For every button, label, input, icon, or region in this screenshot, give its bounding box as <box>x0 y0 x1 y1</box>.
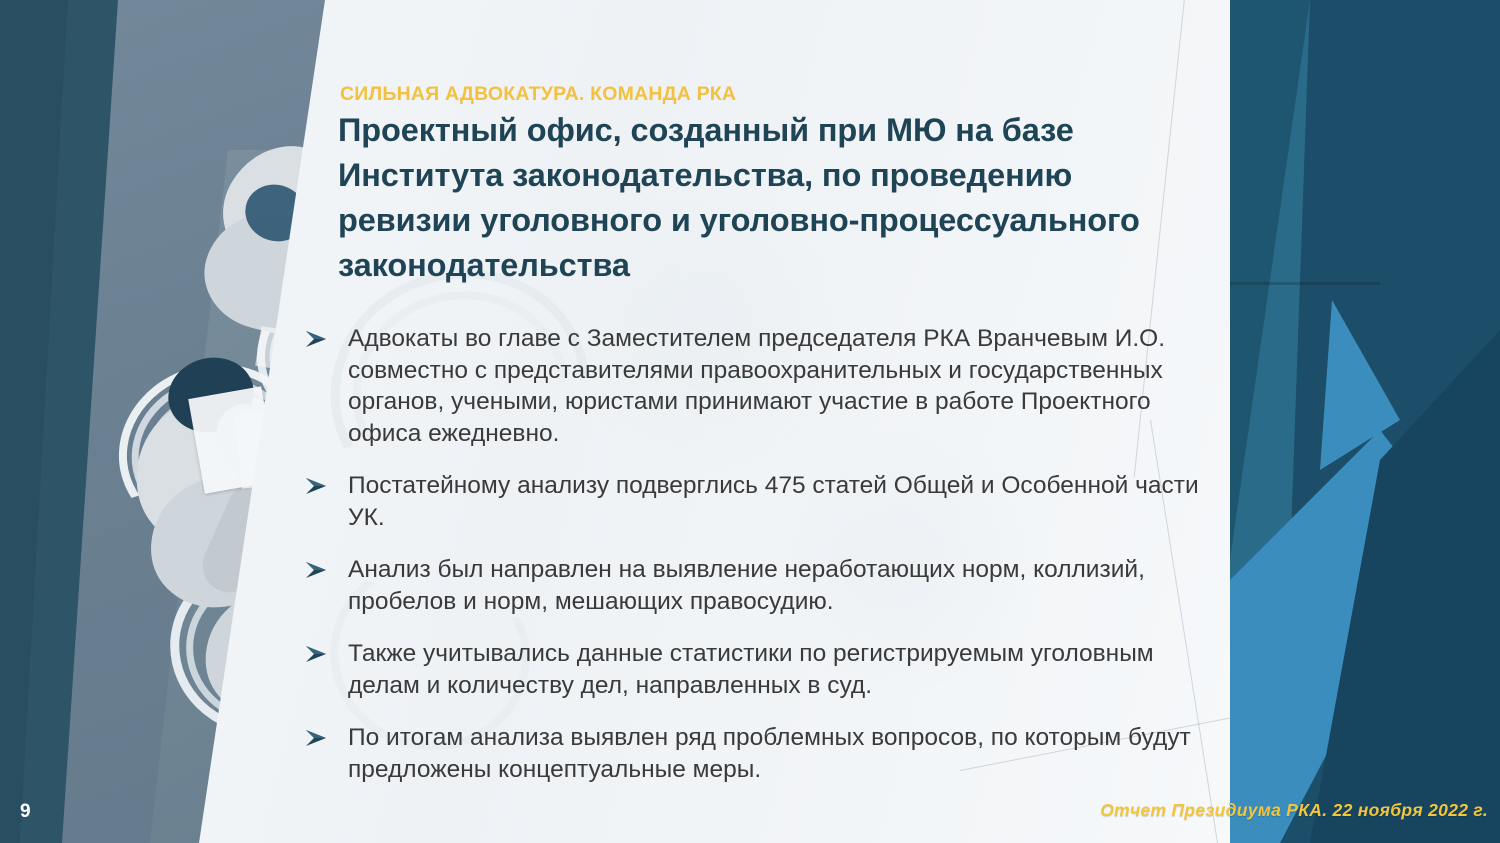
list-item: Также учитывались данные статистики по р… <box>298 638 1203 701</box>
slide-number: 9 <box>20 801 31 823</box>
list-item-text: Адвокаты во главе с Заместителем председ… <box>348 325 1165 447</box>
arrow-chevron-right-icon <box>302 642 332 666</box>
page-title: Проектный офис, созданный при МЮ на базе… <box>338 108 1188 288</box>
list-item: Адвокаты во главе с Заместителем председ… <box>298 323 1203 449</box>
list-item: По итогам анализа выявлен ряд проблемных… <box>298 722 1203 785</box>
list-item-text: Также учитывались данные статистики по р… <box>348 640 1154 699</box>
list-item-text: Анализ был направлен на выявление нерабо… <box>348 556 1145 615</box>
bullet-list: Адвокаты во главе с Заместителем председ… <box>298 323 1203 785</box>
list-item-text: Постатейному анализу подверглись 475 ста… <box>348 472 1199 531</box>
list-item: Постатейному анализу подверглись 475 ста… <box>298 470 1203 533</box>
slide-footer: Отчет Президиума РКА. 22 ноября 2022 г. <box>1100 800 1488 821</box>
arrow-chevron-right-icon <box>302 558 332 582</box>
list-item-text: По итогам анализа выявлен ряд проблемных… <box>348 724 1191 783</box>
arrow-chevron-right-icon <box>302 726 332 750</box>
arrow-chevron-right-icon <box>302 474 332 498</box>
arrow-chevron-right-icon <box>302 327 332 351</box>
list-item: Анализ был направлен на выявление нерабо… <box>298 554 1203 617</box>
slide-kicker: СИЛЬНАЯ АДВОКАТУРА. КОМАНДА РКА <box>340 83 736 106</box>
presentation-slide: СИЛЬНАЯ АДВОКАТУРА. КОМАНДА РКА Проектны… <box>0 0 1500 843</box>
